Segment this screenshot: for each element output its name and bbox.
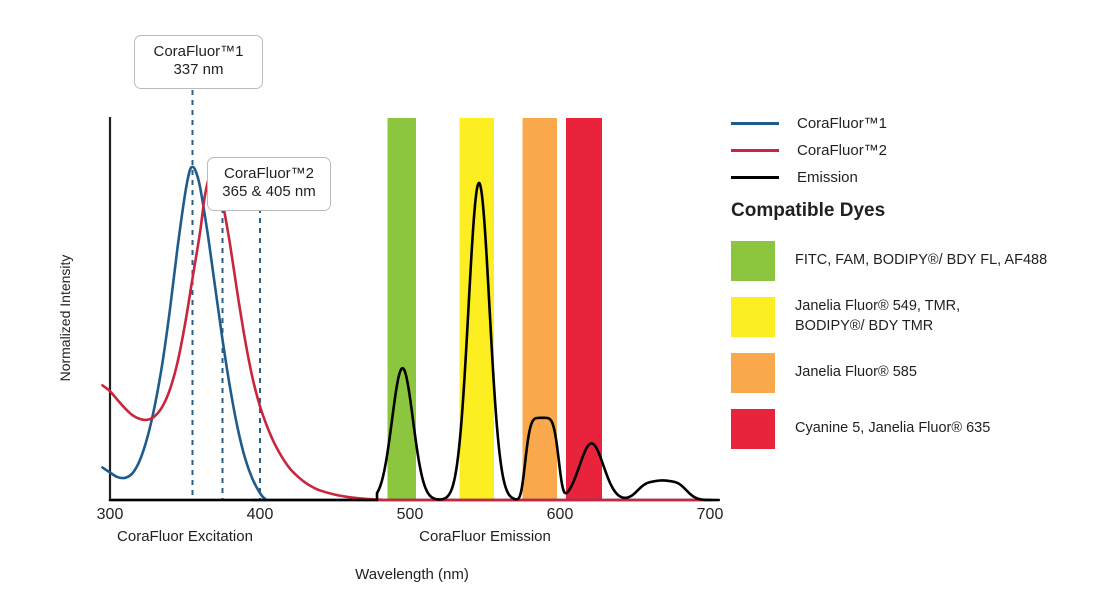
x-tick-label: 400 xyxy=(230,506,290,524)
y-axis-title: Normalized Intensity xyxy=(57,228,73,408)
compatible-dyes-heading: Compatible Dyes xyxy=(731,200,885,222)
x-axis-sublabel-excitation: CoraFluor Excitation xyxy=(95,528,275,545)
x-tick-label: 300 xyxy=(80,506,140,524)
callout-cf1-line1: CoraFluor™1 xyxy=(147,43,250,61)
callout-cf2-line1: CoraFluor™2 xyxy=(220,165,318,183)
green-band xyxy=(388,118,417,500)
dye-label: FITC, FAM, BODIPY®/ BDY FL, AF488 xyxy=(795,251,1047,271)
legend-line-swatch xyxy=(731,149,779,152)
legend-item-emission: Emission xyxy=(731,164,1061,191)
x-axis-sublabel-emission: CoraFluor Emission xyxy=(395,528,575,545)
compatible-dyes-list: FITC, FAM, BODIPY®/ BDY FL, AF488Janelia… xyxy=(731,233,1091,457)
dye-label-line: Cyanine 5, Janelia Fluor® 635 xyxy=(795,419,990,439)
dye-label: Janelia Fluor® 585 xyxy=(795,363,917,383)
legend-item-label: CoraFluor™1 xyxy=(797,115,887,132)
dye-color-swatch xyxy=(731,409,775,449)
x-tick-label: 700 xyxy=(680,506,740,524)
dye-row: Janelia Fluor® 549, TMR,BODIPY®/ BDY TMR xyxy=(731,289,1091,345)
dye-color-swatch xyxy=(731,241,775,281)
legend-line-swatch xyxy=(731,176,779,179)
callout-corafluor-2: CoraFluor™2 365 & 405 nm xyxy=(207,157,331,211)
dye-label: Janelia Fluor® 549, TMR,BODIPY®/ BDY TMR xyxy=(795,297,960,336)
legend-item-corafluor-2: CoraFluor™2 xyxy=(731,137,1061,164)
dye-label-line: BODIPY®/ BDY TMR xyxy=(795,317,960,337)
dye-color-swatch xyxy=(731,297,775,337)
legend-item-label: Emission xyxy=(797,169,858,186)
x-tick-label: 600 xyxy=(530,506,590,524)
dye-row: Janelia Fluor® 585 xyxy=(731,345,1091,401)
dye-row: Cyanine 5, Janelia Fluor® 635 xyxy=(731,401,1091,457)
callout-cf2-line2: 365 & 405 nm xyxy=(220,183,318,201)
red-band xyxy=(566,118,602,500)
dye-label-line: Janelia Fluor® 585 xyxy=(795,363,917,383)
x-axis-title: Wavelength (nm) xyxy=(262,566,562,583)
dye-label-line: FITC, FAM, BODIPY®/ BDY FL, AF488 xyxy=(795,251,1047,271)
dye-label: Cyanine 5, Janelia Fluor® 635 xyxy=(795,419,990,439)
legend-item-label: CoraFluor™2 xyxy=(797,142,887,159)
legend-line-swatch xyxy=(731,122,779,125)
spectra-figure: CoraFluor™1 337 nm CoraFluor™2 365 & 405… xyxy=(0,0,1110,612)
dye-color-swatch xyxy=(731,353,775,393)
callout-cf1-line2: 337 nm xyxy=(147,61,250,79)
legend-item-corafluor-1: CoraFluor™1 xyxy=(731,110,1061,137)
callout-corafluor-1: CoraFluor™1 337 nm xyxy=(134,35,263,89)
dye-row: FITC, FAM, BODIPY®/ BDY FL, AF488 xyxy=(731,233,1091,289)
dye-label-line: Janelia Fluor® 549, TMR, xyxy=(795,297,960,317)
series-legend: CoraFluor™1 CoraFluor™2 Emission xyxy=(731,110,1061,191)
x-tick-label: 500 xyxy=(380,506,440,524)
